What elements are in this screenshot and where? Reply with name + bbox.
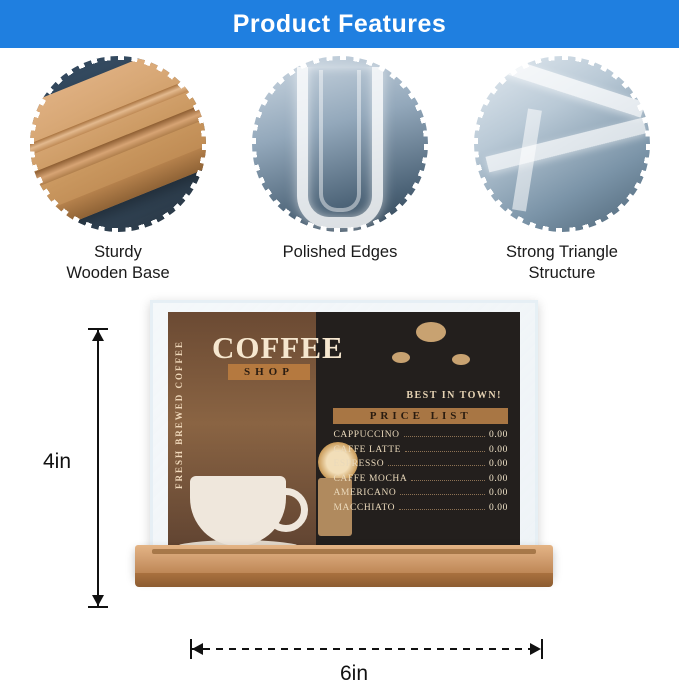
wooden-base-photo [30,56,206,232]
price-list-row: CAFFE MOCHA 0.00 [333,474,508,484]
price-list-item-name: AMERICANO [333,488,396,498]
price-list-row: MACCHIATO 0.00 [333,503,508,513]
features-row: Sturdy Wooden Base Polished Edges [0,56,679,286]
edge-photo-background [252,56,428,232]
price-list-item-price: 0.00 [489,459,508,469]
width-dimension-cap-right [541,639,543,659]
feature-strong-triangle-structure: Strong Triangle Structure [462,56,662,283]
coffee-bean-icon [416,322,446,342]
price-list-dots [400,493,485,495]
feature-caption-line2: Structure [462,263,662,284]
price-list-dots [405,450,485,452]
arrow-right-icon [530,643,541,655]
price-list: CAPPUCCINO 0.00 CAFFE LATTE 0.00 ESPRESS… [333,430,508,517]
price-list-item-price: 0.00 [489,474,508,484]
price-list-item-name: CAFFE LATTE [333,445,401,455]
feature-polished-edges: Polished Edges [240,56,440,263]
price-list-dots [404,435,485,437]
feature-caption-line1: Strong Triangle [462,242,662,263]
triangle-photo-background [474,56,650,232]
price-list-item-price: 0.00 [489,503,508,513]
wooden-base-slot [152,549,536,554]
coffee-bean-icon [392,352,410,363]
product-photo-area: 4in FRESH BREWED COFFEE COFFEE SHOP BEST… [0,290,679,679]
header-banner: Product Features [0,0,679,48]
feature-caption: Sturdy Wooden Base [18,242,218,283]
wooden-base-front-face [135,573,553,587]
poster-tagline: BEST IN TOWN! [406,390,502,401]
price-list-dots [399,508,485,510]
price-list-item-price: 0.00 [489,445,508,455]
poster-vertical-text: FRESH BREWED COFFEE [174,340,184,489]
price-list-item-name: CAFFE MOCHA [333,474,407,484]
polished-edge-photo [252,56,428,232]
price-list-item-price: 0.00 [489,488,508,498]
price-list-item-price: 0.00 [489,430,508,440]
price-list-row: AMERICANO 0.00 [333,488,508,498]
price-list-dots [388,464,485,466]
acrylic-plate-top [486,56,645,118]
arrow-up-icon [92,330,104,341]
price-list-item-name: CAPPUCCINO [333,430,399,440]
arrow-down-icon [92,595,104,606]
feature-sturdy-wooden-base: Sturdy Wooden Base [18,56,218,283]
price-list-row: CAPPUCCINO 0.00 [333,430,508,440]
price-list-title: PRICE LIST [333,408,508,424]
acrylic-u-inner-shape [319,70,361,212]
acrylic-sign-holder: FRESH BREWED COFFEE COFFEE SHOP BEST IN … [150,300,538,568]
width-dimension-line [190,648,543,650]
price-list-row: ESPRESSO 0.00 [333,459,508,469]
price-list-item-name: MACCHIATO [333,503,395,513]
feature-caption-line2: Wooden Base [18,263,218,284]
height-dimension-label: 4in [43,450,71,474]
feature-caption: Strong Triangle Structure [462,242,662,283]
price-list-row: CAFFE LATTE 0.00 [333,445,508,455]
feature-caption-line1: Polished Edges [240,242,440,263]
width-dimension-dashes [190,648,543,650]
width-dimension-label: 6in [340,662,368,686]
coffee-shop-poster: FRESH BREWED COFFEE COFFEE SHOP BEST IN … [168,312,520,560]
height-dimension-dashes [97,328,99,608]
arrow-left-icon [192,643,203,655]
height-dimension-cap-bottom [88,606,108,608]
acrylic-plate-bottom [485,118,646,173]
feature-image-wrap [474,56,650,232]
feature-image-wrap [30,56,206,232]
poster-shop-ribbon: SHOP [228,364,310,380]
coffee-bean-burst-icon [382,318,486,376]
coffee-bean-icon [452,354,470,365]
poster-brand-title: COFFEE [212,330,344,366]
feature-caption: Polished Edges [240,242,440,263]
wood-photo-background [30,56,206,232]
feature-image-wrap [252,56,428,232]
height-dimension-line [97,328,99,608]
page-title: Product Features [233,10,447,39]
wood-block-shape [30,56,206,232]
triangle-structure-photo [474,56,650,232]
price-list-dots [411,479,485,481]
feature-caption-line1: Sturdy [18,242,218,263]
price-list-item-name: ESPRESSO [333,459,384,469]
